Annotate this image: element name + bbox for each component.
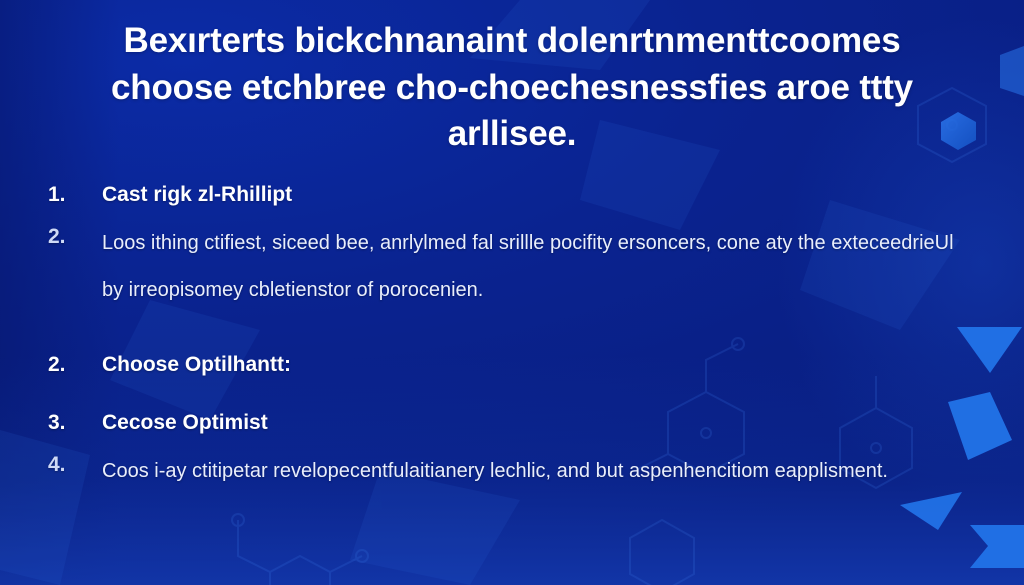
list-item: 2. Choose Optilhantt: xyxy=(48,348,968,382)
list-item: 3. Cecose Optimist xyxy=(48,406,968,440)
list-item-text: Loos ithing ctifiest, siceed bee, anrlyl… xyxy=(102,220,968,314)
list-item: 1. Cast rigk zl-Rhillipt xyxy=(48,178,968,212)
list-item: 4. Coos i-ay ctitipetar revelopecentfula… xyxy=(48,448,968,495)
slide-content: Bexırterts bickchnanaint dolenrtnmenttco… xyxy=(0,0,1024,585)
spacer xyxy=(48,212,968,220)
page-title: Bexırterts bickchnanaint dolenrtnmenttco… xyxy=(62,18,962,158)
list-item-number: 4. xyxy=(48,448,102,482)
list-item-text: Choose Optilhantt: xyxy=(102,348,968,382)
list-item-number: 2. xyxy=(48,220,102,254)
list-item-number: 1. xyxy=(48,178,102,212)
list-item-number: 2. xyxy=(48,348,102,382)
list-item: 2. Loos ithing ctifiest, siceed bee, anr… xyxy=(48,220,968,314)
list-item-text: Coos i-ay ctitipetar revelopecentfulaiti… xyxy=(102,448,968,495)
numbered-list: 1. Cast rigk zl-Rhillipt 2. Loos ithing … xyxy=(48,178,968,495)
spacer xyxy=(48,382,968,406)
list-item-text: Cast rigk zl-Rhillipt xyxy=(102,178,968,212)
list-item-text: Cecose Optimist xyxy=(102,406,968,440)
spacer xyxy=(48,314,968,348)
spacer xyxy=(48,440,968,448)
list-item-number: 3. xyxy=(48,406,102,440)
slide-canvas: Bexırterts bickchnanaint dolenrtnmenttco… xyxy=(0,0,1024,585)
